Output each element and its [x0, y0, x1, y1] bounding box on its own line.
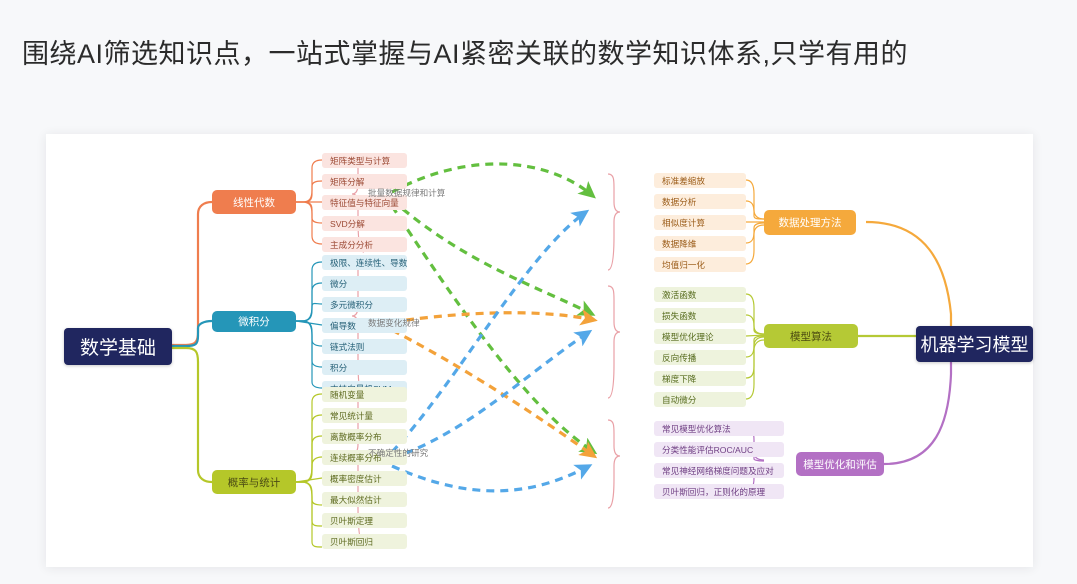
links-model-eval-leaves — [746, 428, 764, 491]
page-title: 围绕AI筛选知识点，一站式掌握与AI紧密关联的数学知识体系,只学有用的 — [22, 36, 908, 72]
leaf-item[interactable]: 激活函数 — [654, 287, 746, 302]
links-model-algorithm-leaves — [746, 294, 764, 399]
arrow-uncertainty-to-model-eval — [392, 466, 589, 491]
leaf-item[interactable]: 模型优化理论 — [654, 329, 746, 344]
leaf-item[interactable]: 常见神经网络梯度问题及应对 — [654, 463, 784, 478]
leaf-item[interactable]: 自动微分 — [654, 392, 746, 407]
link-model-eval-to-ml — [884, 358, 951, 464]
leaf-item[interactable]: 数据分析 — [654, 194, 746, 209]
leaf-item[interactable]: 反向传播 — [654, 350, 746, 365]
brace-right-group-1 — [608, 174, 620, 270]
leaf-item[interactable]: 离散概率分布 — [322, 429, 407, 444]
leaf-item[interactable]: 概率密度估计 — [322, 471, 407, 486]
link-root-calculus — [172, 321, 212, 346]
node-branch-calculus[interactable]: 微积分 — [212, 311, 296, 332]
mid-label-uncertainty: 不确定性的研究 — [368, 447, 428, 459]
leaf-item[interactable]: 微分 — [322, 276, 407, 291]
leaf-item[interactable]: 链式法则 — [322, 339, 407, 354]
mindmap-connectors — [46, 134, 1033, 567]
leaf-item[interactable]: 极限、连续性、导数 — [322, 255, 407, 270]
leaf-item[interactable]: 贝叶斯回归，正则化的原理 — [654, 484, 784, 499]
leaf-item[interactable]: 常见模型优化算法 — [654, 421, 784, 436]
node-branch-probability[interactable]: 概率与统计 — [212, 470, 296, 494]
node-root-math-foundation[interactable]: 数学基础 — [64, 328, 172, 365]
node-branch-linear-algebra-label: 线性代数 — [233, 195, 275, 210]
node-branch-model-evaluation-label: 模型优化和评估 — [803, 457, 877, 472]
node-branch-data-processing-label: 数据处理方法 — [779, 215, 842, 230]
leaf-item[interactable]: 矩阵类型与计算 — [322, 153, 407, 168]
leaf-item[interactable]: 随机变量 — [322, 387, 407, 402]
mid-label-batch-data: 批量数据规律和计算 — [368, 187, 445, 199]
link-data-processing-to-ml — [866, 222, 951, 330]
node-branch-model-algorithm[interactable]: 模型算法 — [764, 324, 858, 348]
node-branch-model-evaluation[interactable]: 模型优化和评估 — [796, 452, 884, 476]
links-data-processing-leaves — [746, 180, 764, 264]
leaf-item[interactable]: 分类性能评估ROC/AUC — [654, 442, 784, 457]
leaf-item[interactable]: 损失函数 — [654, 308, 746, 323]
leaf-item[interactable]: 常见统计量 — [322, 408, 407, 423]
links-calculus-leaves — [296, 262, 322, 388]
leaf-item[interactable]: 主成分分析 — [322, 237, 407, 252]
arrow-uncertainty-to-data-processing — [392, 212, 586, 452]
node-ml-model-label: 机器学习模型 — [921, 331, 1029, 357]
leaf-item[interactable]: 贝叶斯定理 — [322, 513, 407, 528]
leaf-item[interactable]: 积分 — [322, 360, 407, 375]
links-linear-algebra-leaves — [296, 160, 322, 244]
node-ml-model[interactable]: 机器学习模型 — [916, 326, 1033, 362]
leaf-item[interactable]: 数据降维 — [654, 236, 746, 251]
leaf-item[interactable]: 均值归一化 — [654, 257, 746, 272]
leaf-item[interactable]: 标准差缩放 — [654, 173, 746, 188]
leaf-item[interactable]: 相似度计算 — [654, 215, 746, 230]
node-branch-model-algorithm-label: 模型算法 — [790, 329, 832, 344]
node-branch-calculus-label: 微积分 — [238, 314, 270, 329]
brace-right-group-3 — [608, 420, 620, 508]
node-branch-linear-algebra[interactable]: 线性代数 — [212, 190, 296, 214]
leaf-item[interactable]: 多元微积分 — [322, 297, 407, 312]
brace-right-group-2 — [608, 286, 620, 398]
node-branch-probability-label: 概率与统计 — [228, 475, 281, 490]
leaf-item[interactable]: 最大似然估计 — [322, 492, 407, 507]
mindmap-card: 数学基础 线性代数 微积分 概率与统计 矩阵类型与计算 矩阵分解 特征值与特征向… — [46, 134, 1033, 567]
links-probability-leaves — [296, 394, 322, 547]
node-root-label: 数学基础 — [80, 333, 156, 360]
node-branch-data-processing[interactable]: 数据处理方法 — [764, 210, 856, 235]
link-root-linear-algebra — [172, 202, 212, 345]
leaf-item[interactable]: 贝叶斯回归 — [322, 534, 407, 549]
arrow-uncertainty-to-model-algorithm — [392, 332, 589, 458]
leaf-item[interactable]: 梯度下降 — [654, 371, 746, 386]
leaf-item[interactable]: SVD分解 — [322, 216, 407, 231]
link-root-probability — [172, 348, 212, 482]
mid-label-data-change: 数据变化规律 — [368, 317, 420, 329]
arrow-batch-to-model-algorithm — [392, 200, 592, 314]
